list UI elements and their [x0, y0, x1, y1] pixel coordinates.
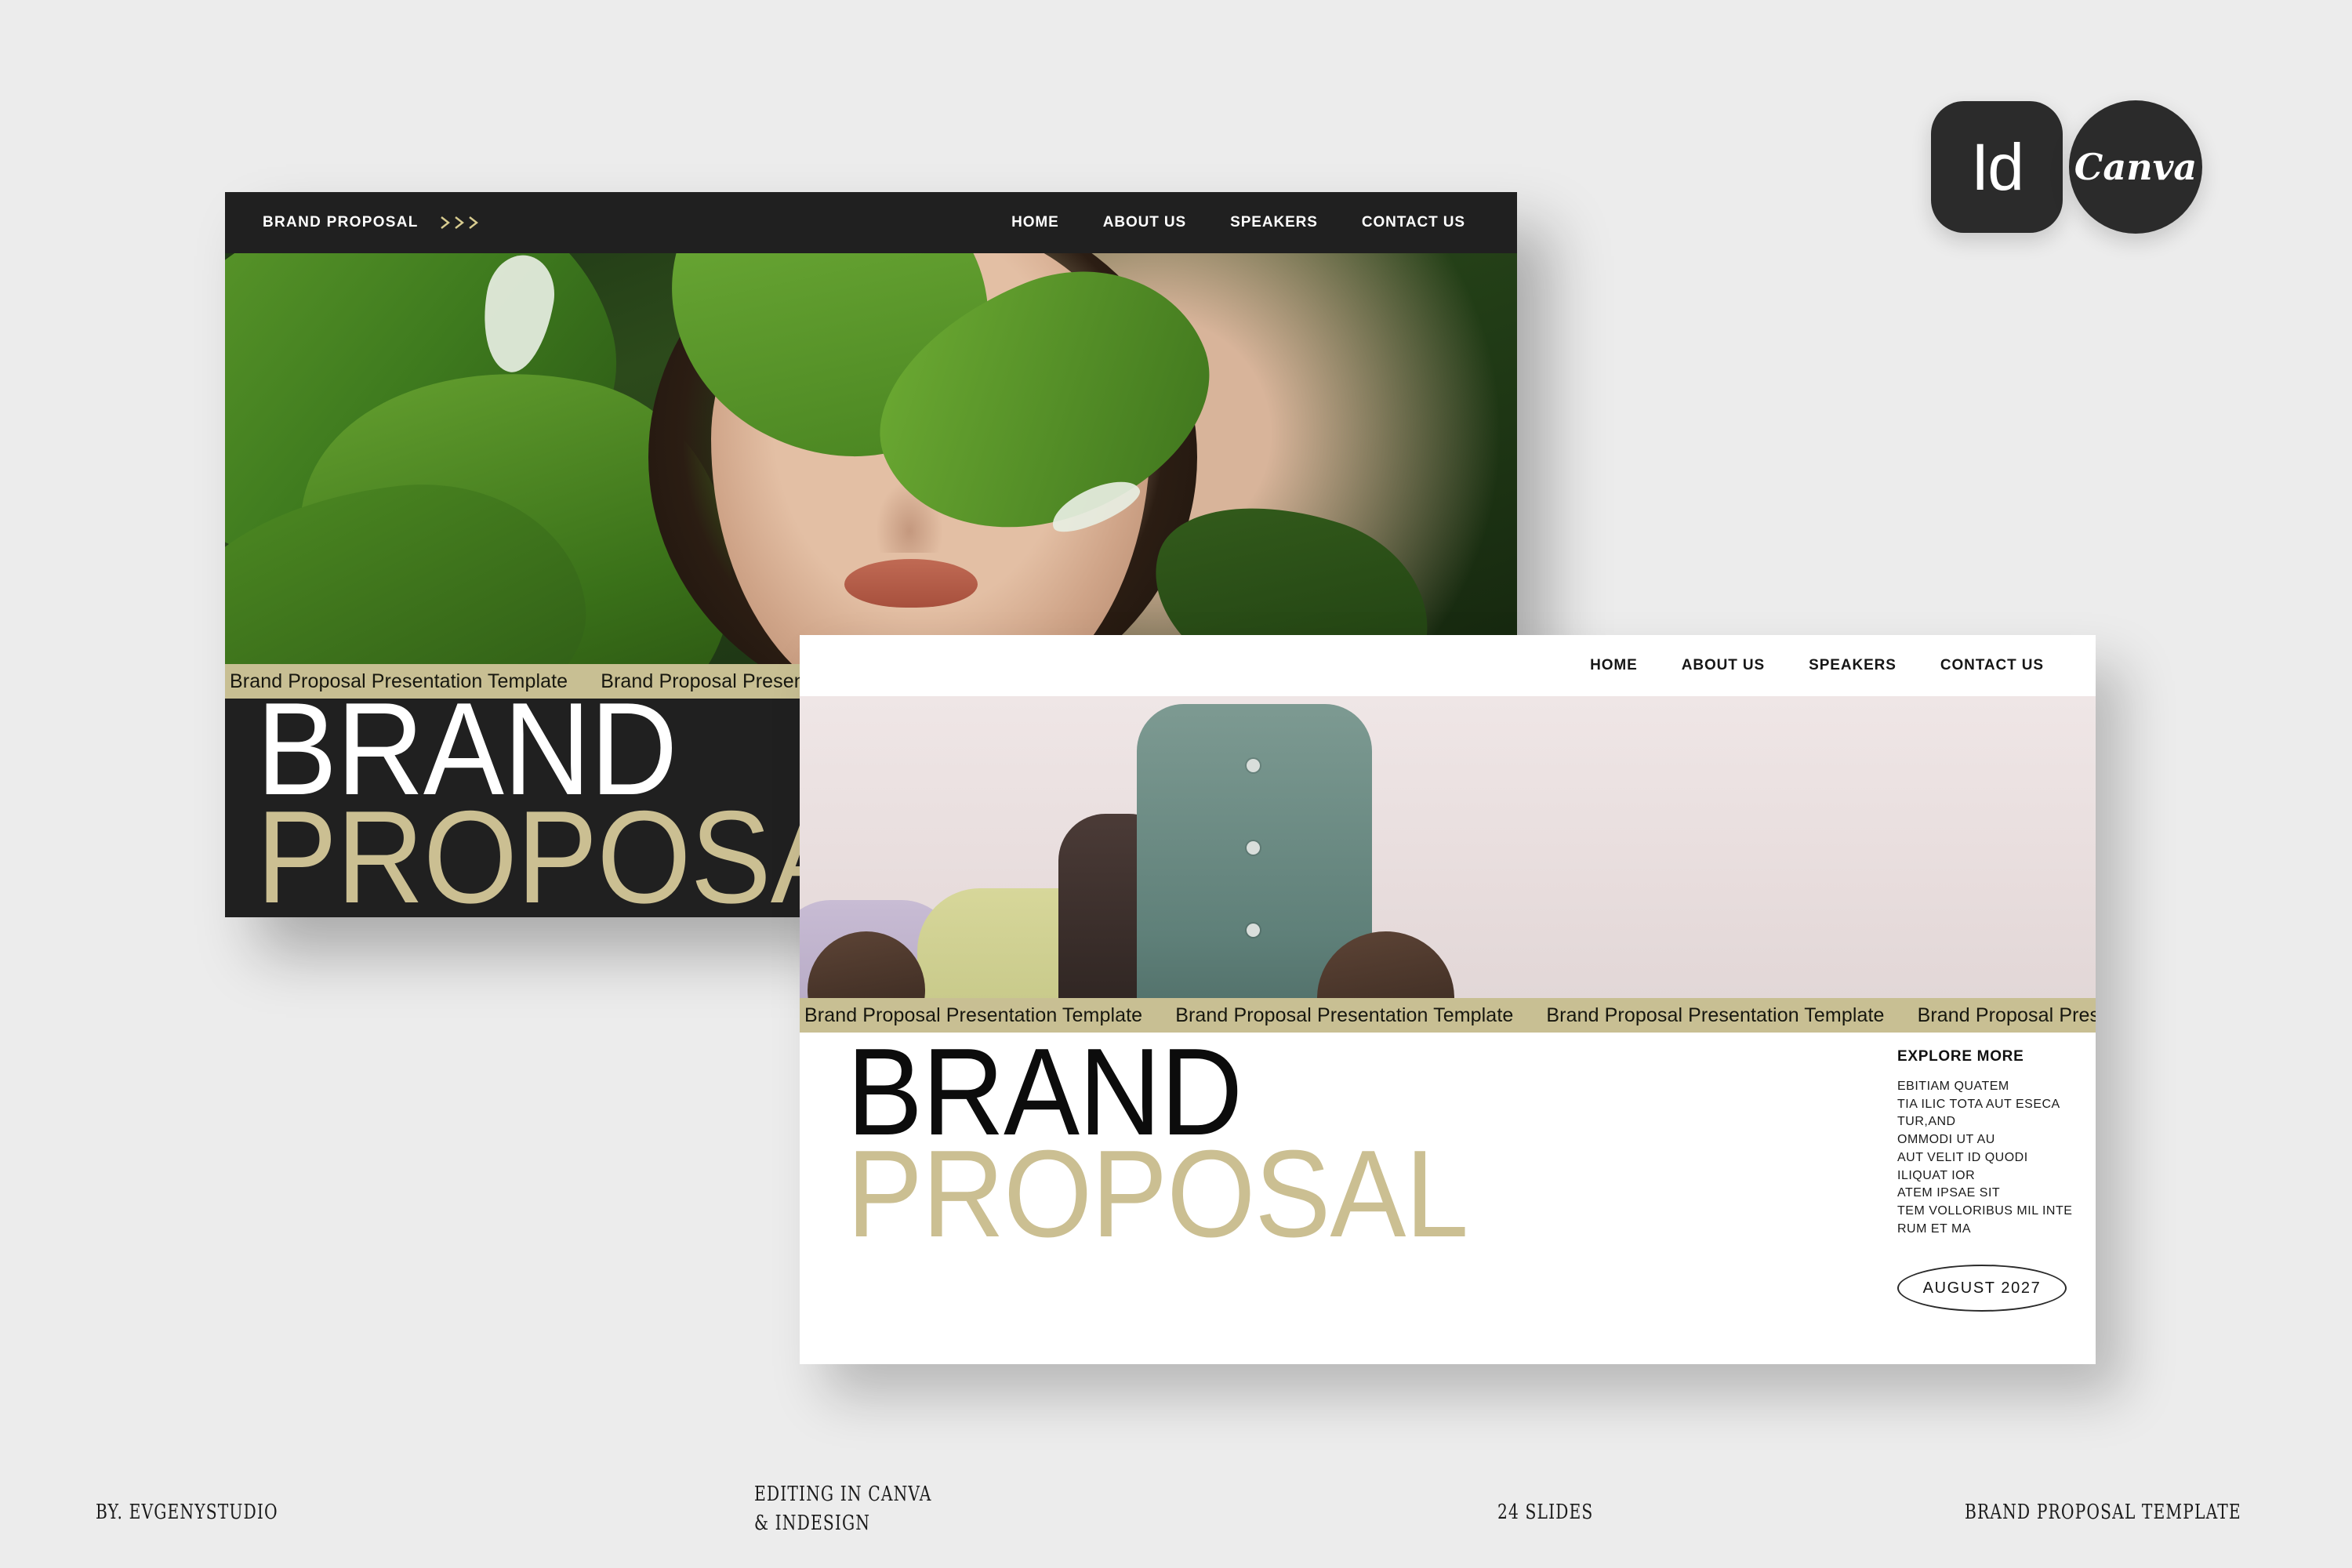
list-item: RUM ET MA — [1897, 1221, 2072, 1239]
nav-item-home[interactable]: HOME — [1590, 657, 1638, 674]
nav-item-speakers[interactable]: SPEAKERS — [1230, 214, 1318, 231]
list-item: OMMODI UT AU — [1897, 1131, 2072, 1149]
nav-item-about-us[interactable]: ABOUT US — [1682, 657, 1765, 674]
slide-light-topbar: HOME ABOUT US SPEAKERS CONTACT US — [800, 635, 2096, 696]
canva-badge: Canva — [2069, 100, 2202, 234]
footer-editing: EDITING IN CANVA & INDESIGN — [754, 1480, 932, 1538]
slide-dark-hero-photo — [225, 253, 1517, 664]
mockup-canvas: Id Canva BRAND PROPOSAL HOME ABOUT US SP… — [0, 0, 2352, 1568]
brandmark[interactable]: BRAND PROPOSAL — [263, 214, 480, 231]
nav-item-contact-us[interactable]: CONTACT US — [1940, 657, 2044, 674]
nav-item-speakers[interactable]: SPEAKERS — [1809, 657, 1896, 674]
app-badges: Id Canva — [1931, 100, 2202, 234]
slide-light[interactable]: HOME ABOUT US SPEAKERS CONTACT US — [800, 635, 2096, 1364]
footer-template-name: BRAND PROPOSAL TEMPLATE — [1965, 1501, 2241, 1524]
slide-light-nav: HOME ABOUT US SPEAKERS CONTACT US — [1590, 657, 2058, 674]
slide-dark-topbar: BRAND PROPOSAL HOME ABOUT US SPEAKERS CO… — [225, 192, 1517, 253]
slide-dark-nav: HOME ABOUT US SPEAKERS CONTACT US — [1011, 214, 1479, 231]
nav-item-home[interactable]: HOME — [1011, 214, 1059, 231]
marquee-text: Brand Proposal Presentation Template — [1918, 1004, 2096, 1027]
footer-editing-line-2: & INDESIGN — [754, 1509, 932, 1538]
indesign-logo-icon: Id — [1971, 134, 2023, 200]
slide-light-title: BRAND PROPOSAL — [847, 1042, 1522, 1245]
list-item: TUR,AND — [1897, 1113, 2072, 1131]
indesign-badge: Id — [1931, 101, 2063, 233]
list-item: TIA ILIC TOTA AUT ESECA — [1897, 1096, 2072, 1114]
brandmark-label: BRAND PROPOSAL — [263, 214, 419, 231]
list-item: ILIQUAT IOR — [1897, 1167, 2072, 1185]
chevron-right-triple-icon — [439, 215, 480, 230]
footer: BY. EVGENYSTUDIO EDITING IN CANVA & INDE… — [0, 1472, 2352, 1543]
canva-logo-icon: Canva — [2074, 149, 2197, 185]
list-item: TEM VOLLORIBUS MIL INTE — [1897, 1203, 2072, 1221]
nav-item-contact-us[interactable]: CONTACT US — [1362, 214, 1465, 231]
title-line-2: PROPOSAL — [847, 1144, 1468, 1246]
slide-light-content: BRAND PROPOSAL EXPLORE MORE EBITIAM QUAT… — [800, 1033, 2096, 1364]
slide-light-hero-photo — [800, 696, 2096, 998]
nav-item-about-us[interactable]: ABOUT US — [1103, 214, 1186, 231]
explore-more-heading: EXPLORE MORE — [1897, 1048, 2072, 1065]
list-item: EBITIAM QUATEM — [1897, 1078, 2072, 1096]
list-item: AUT VELIT ID QUODI — [1897, 1149, 2072, 1167]
explore-more-list: EBITIAM QUATEM TIA ILIC TOTA AUT ESECA T… — [1897, 1078, 2072, 1238]
slide-light-explore: EXPLORE MORE EBITIAM QUATEM TIA ILIC TOT… — [1897, 1048, 2072, 1312]
date-badge[interactable]: AUGUST 2027 — [1897, 1265, 2067, 1312]
footer-author: BY. EVGENYSTUDIO — [96, 1501, 278, 1524]
footer-slides-count: 24 SLIDES — [1497, 1501, 1593, 1524]
marquee-text: Brand Proposal Presentation Template — [1546, 1004, 1884, 1027]
list-item: ATEM IPSAE SIT — [1897, 1185, 2072, 1203]
footer-editing-line-1: EDITING IN CANVA — [754, 1480, 932, 1509]
